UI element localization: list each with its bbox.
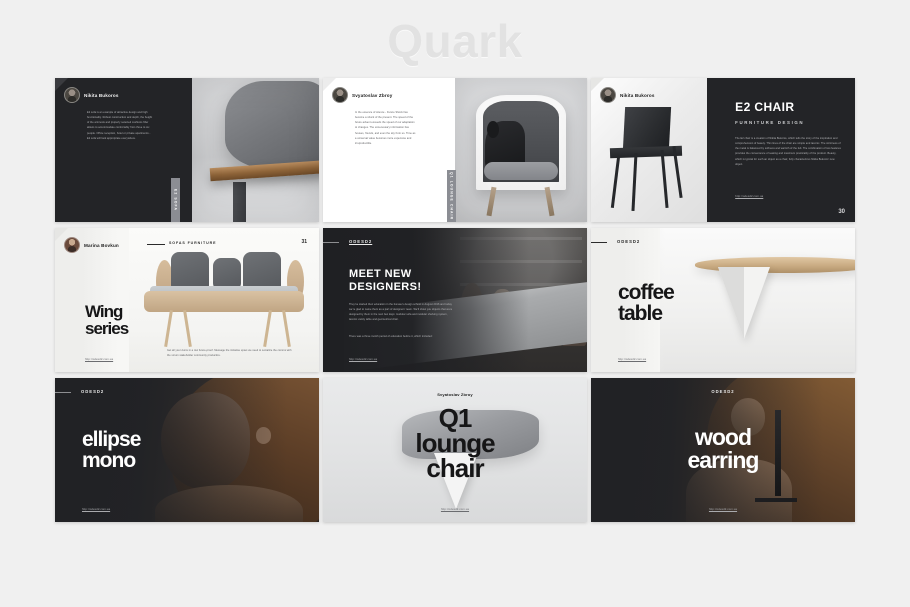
slide-title: E2 CHAIR (735, 102, 794, 114)
author-block: Svyatoslav Zbroy (437, 392, 473, 397)
author-block: Svyatoslav Zbroy (332, 87, 392, 103)
slide-url[interactable]: http://odesd2.com.ua (735, 194, 763, 198)
slide-thumbnail-wing-series[interactable]: Marina Bovkun SOFAS FURNITURE 31 Wing se… (55, 228, 319, 372)
brand-mark: ODESD2 (349, 239, 372, 244)
page-title: Quark (0, 14, 910, 68)
slide-subtitle: FURNITURE DESIGN (735, 120, 804, 125)
chair-back-shape (622, 107, 671, 150)
author-name: Svyatoslav Zbroy (437, 392, 473, 397)
slide-title-line-1: wood (695, 426, 751, 448)
author-name: Marina Bovkun (84, 243, 119, 248)
chair-leg-shape (631, 153, 637, 211)
body-text: E2 sofa is an example of attractive desi… (87, 110, 153, 141)
chair-leg-shape (487, 187, 497, 216)
slide-image-panel: Nikita Bukoros (591, 78, 707, 222)
sofa-leg-shape (164, 310, 173, 347)
sofa-leg-shape (282, 310, 291, 347)
author-block: Nikita Bukoros (600, 87, 655, 103)
sofa-leg-shape (233, 182, 246, 222)
slide-title-line-2: earring (688, 449, 759, 471)
brand-rule (55, 392, 71, 393)
slide-headline-line-2: DESIGNERS! (349, 281, 421, 293)
sofa-leg-shape (183, 310, 192, 347)
page-number: 30 (838, 209, 845, 215)
slide-headline-line-1: MEET NEW (349, 268, 411, 280)
slide-thumbnail-meet-new-designers[interactable]: ODESD2 MEET NEW DESIGNERS! They've start… (323, 228, 587, 372)
slide-image-panel (192, 78, 319, 222)
slide-url[interactable]: http://odesd2.com.ua (82, 507, 110, 511)
table-cone-shadow-shape (718, 267, 744, 339)
slide-grid: Nikita Bukoros E2 sofa is an example of … (55, 78, 855, 522)
author-block: Nikita Bukoros (64, 87, 119, 103)
author-name: Nikita Bukoros (620, 93, 655, 98)
slide-title-line-1: ellipse (82, 430, 140, 450)
brand-rule (591, 242, 607, 243)
author-name: Nikita Bukoros (84, 93, 119, 98)
slide-thumbnail-e2-sofa-intro[interactable]: Nikita Bukoros E2 sofa is an example of … (55, 78, 319, 222)
body-text: The E2 chair is a creation of Nikita Buk… (735, 136, 843, 167)
brand-mark: ODESD2 (617, 239, 640, 244)
avatar (64, 237, 80, 253)
slide-title-line-2: series (85, 321, 128, 337)
slide-title-line-1: coffee (618, 283, 674, 303)
chair-cushion-shape (484, 162, 558, 181)
vertical-tab-label: Q1 LOUNGE CHAIR (447, 170, 456, 222)
slide-title-line-1: Wing (85, 304, 122, 320)
slide-thumbnail-e2-chair[interactable]: Nikita Bukoros E2 CHAIR FURNITURE DESIGN… (591, 78, 855, 222)
slide-text-panel: E2 CHAIR FURNITURE DESIGN The E2 chair i… (707, 78, 855, 222)
avatar (600, 87, 616, 103)
photo-chair-with-person (455, 78, 587, 222)
presentation-preview-canvas: Quark Nikita Bukoros E2 sofa is an examp… (0, 0, 910, 607)
text-panel-scrim (323, 228, 587, 372)
sofa-frame-shape (144, 291, 304, 311)
slide-url[interactable]: http://odesd2.com.ua (441, 507, 469, 511)
slide-kicker: SOFAS FURNITURE (169, 241, 216, 245)
page-number: 31 (301, 239, 307, 245)
slide-title-line-2: mono (82, 451, 135, 471)
chair-leg-shape (611, 156, 621, 208)
slide-thumbnail-q1-lounge-intro[interactable]: Svyatoslav Zbroy In the essence of silen… (323, 78, 587, 222)
slide-thumbnail-wood-earring[interactable]: ODESD2 wood earring http://odesd2.com.ua (591, 378, 855, 522)
slide-title-line-3: chair (426, 456, 483, 481)
chair-leg-shape (545, 187, 555, 216)
slide-text-panel: Svyatoslav Zbroy In the essence of silen… (323, 78, 455, 222)
slide-url[interactable]: http://odesd2.com.ua (618, 357, 646, 361)
brand-rule (323, 242, 339, 243)
vertical-tab-label: E2 SOFA (171, 178, 180, 222)
author-name: Svyatoslav Zbroy (352, 93, 392, 98)
slide-title-line-2: table (618, 304, 662, 324)
body-text: They've started their education in the b… (349, 302, 453, 323)
slide-thumbnail-coffee-table[interactable]: ODESD2 coffee table http://odesd2.com.ua (591, 228, 855, 372)
slide-image-panel (455, 78, 587, 222)
slide-thumbnail-ellipse-mono[interactable]: ODESD2 ellipse mono http://odesd2.com.ua (55, 378, 319, 522)
person-head-shape (487, 121, 499, 138)
photo-sofa-closeup (192, 78, 319, 222)
body-text: In the essence of silence - Future Shock… (355, 110, 417, 146)
avatar (64, 87, 80, 103)
slide-url[interactable]: http://odesd2.com.ua (709, 507, 737, 511)
slide-url[interactable]: http://odesd2.com.ua (349, 357, 377, 361)
kicker-rule (147, 244, 165, 245)
brand-mark: ODESD2 (711, 389, 734, 394)
author-block: Marina Bovkun (64, 237, 119, 253)
slide-thumbnail-q1-lounge-chair[interactable]: Svyatoslav Zbroy Q1 lounge chair http://… (323, 378, 587, 522)
avatar (332, 87, 348, 103)
sofa-leg-shape (263, 310, 272, 347)
slide-caption: Get all your dums in a row future-proof.… (167, 348, 293, 358)
chair-leg-shape (661, 150, 669, 208)
brand-mark: ODESD2 (81, 389, 104, 394)
slide-url[interactable]: http://odesd2.com.ua (85, 357, 113, 361)
body-text-secondary: There was a three month period of educat… (349, 334, 453, 339)
